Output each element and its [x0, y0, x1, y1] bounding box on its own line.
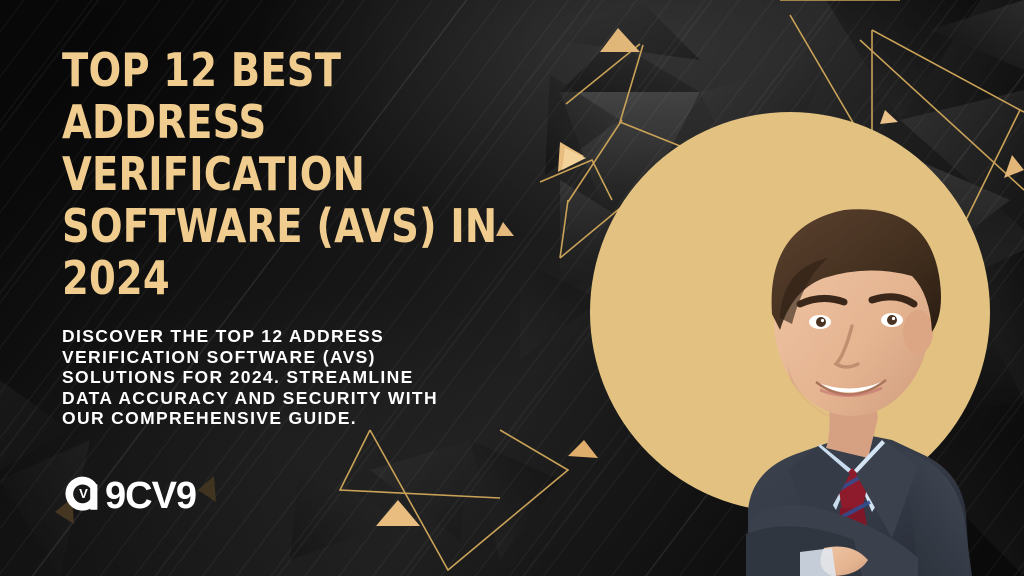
headline-line-2: Address — [62, 96, 499, 148]
subheadline-line-5: our comprehensive guide. — [62, 408, 582, 429]
page-title: Top 12 Best Address Verification Softwar… — [62, 44, 499, 304]
person-photo — [600, 118, 1024, 576]
headline-line-3: Verification — [62, 148, 499, 200]
page-subtitle: Discover the top 12 address verification… — [62, 326, 582, 429]
logo-v-letter: V — [79, 486, 88, 501]
headline-line-1: Top 12 Best — [62, 44, 499, 96]
headline-line-4: Software (AVS) In — [62, 200, 499, 252]
marketing-banner: Top 12 Best Address Verification Softwar… — [0, 0, 1024, 576]
headline-line-5: 2024 — [62, 252, 499, 304]
subheadline-line-3: solutions for 2024. Streamline — [62, 367, 582, 388]
subheadline-line-4: data accuracy and security with — [62, 388, 582, 409]
logo-ring-icon: V — [60, 471, 106, 517]
subheadline-line-2: verification software (AVS) — [62, 347, 582, 368]
subheadline-line-1: Discover the top 12 address — [62, 326, 582, 347]
logo-wordmark: 9CV9 — [105, 477, 196, 515]
brand-logo[interactable]: V 9CV9 — [60, 468, 196, 520]
